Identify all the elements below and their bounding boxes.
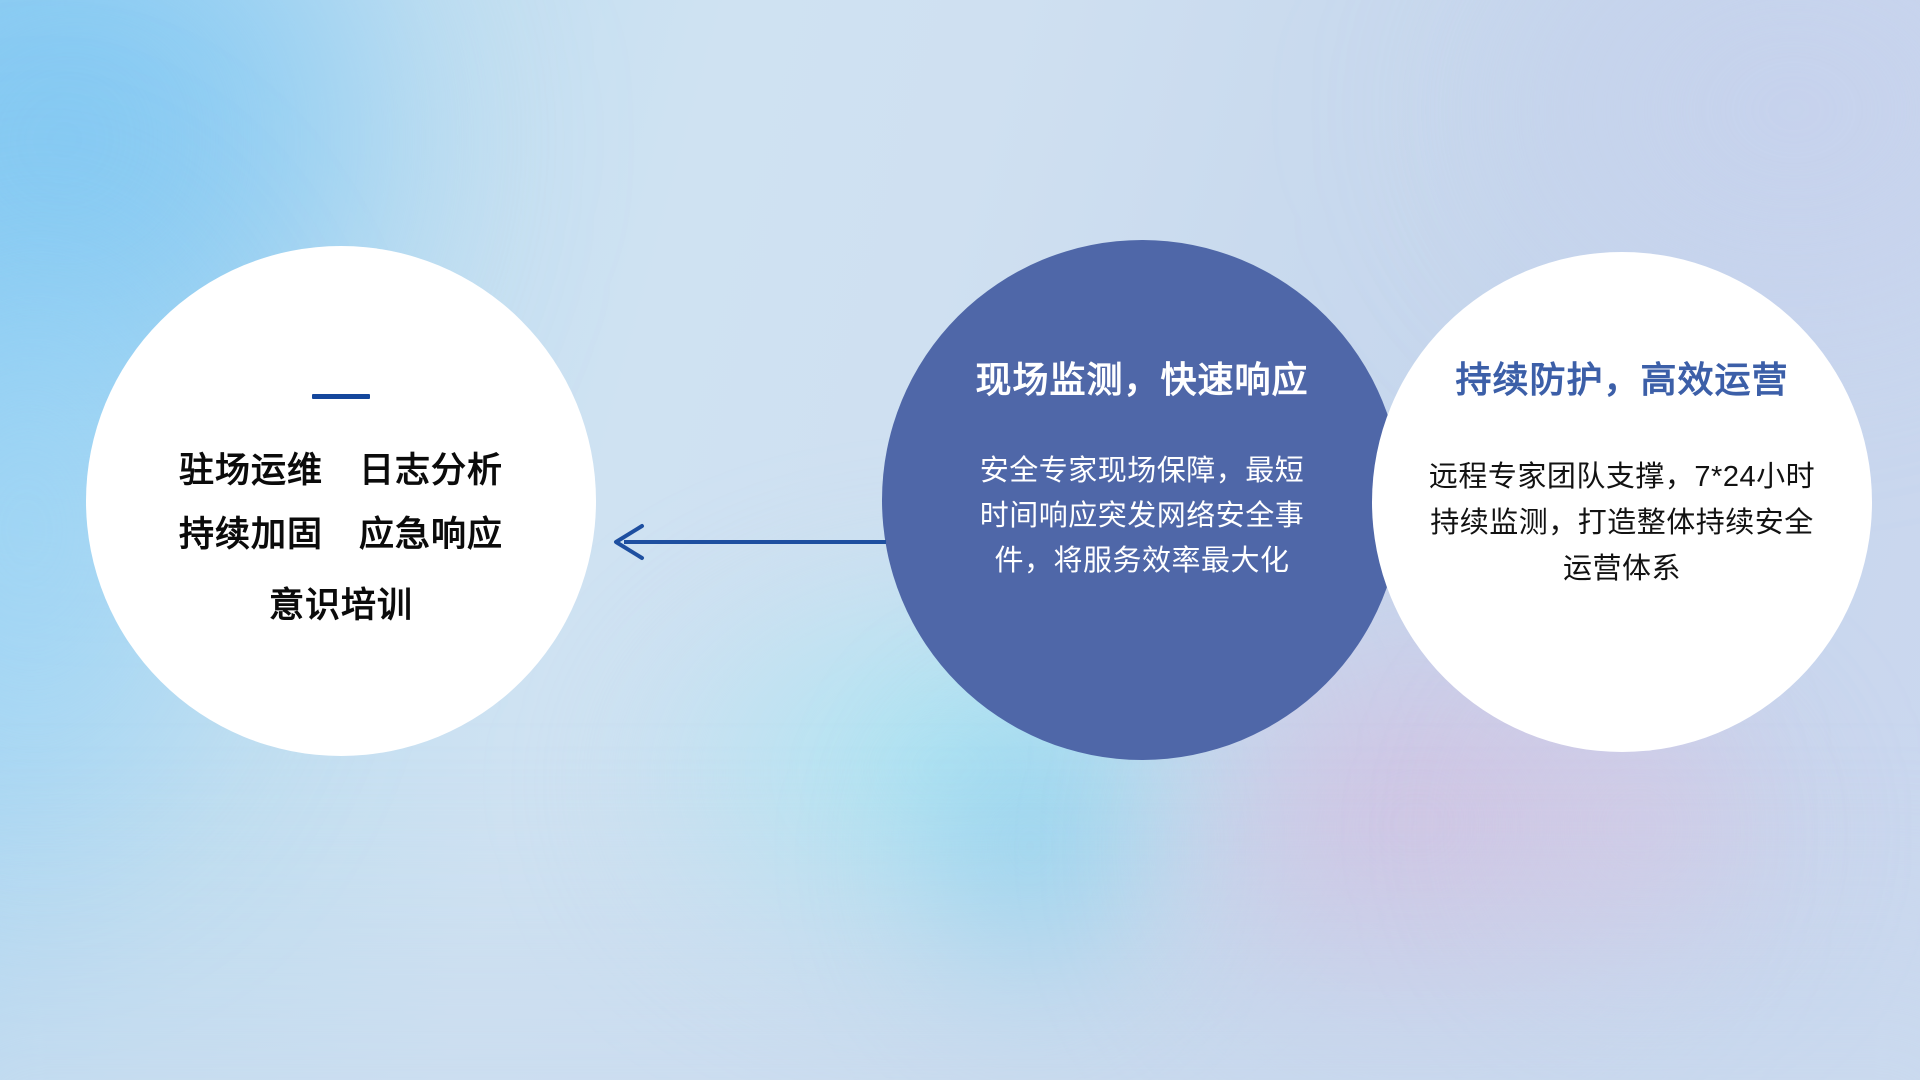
slide-canvas: 驻场运维 日志分析 持续加固 应急响应 意识培训 现场监测，快速响应 安全专家现… [0,0,1920,1080]
capability-line-3: 意识培训 [269,586,413,626]
middle-circle-body: 安全专家现场保障，最短时间响应突发网络安全事件，将服务效率最大化 [977,449,1307,584]
connector-arrow [600,512,890,572]
right-circle-body: 远程专家团队支撑，7*24小时持续监测，打造整体持续安全运营体系 [1417,455,1827,592]
capability-line-2: 持续加固 应急响应 [179,515,503,555]
capability-line-1: 驻场运维 日志分析 [179,451,503,491]
middle-circle-title: 现场监测，快速响应 [975,358,1308,401]
left-circle-divider [312,394,370,399]
background-bottom-fade [0,820,1920,1080]
left-circle-content: 驻场运维 日志分析 持续加固 应急响应 意识培训 [86,246,596,756]
left-circle-capability-list: 驻场运维 日志分析 持续加固 应急响应 意识培训 [179,451,503,626]
left-arrow-icon [600,512,890,572]
right-circle-title: 持续防护，高效运营 [1455,358,1788,401]
